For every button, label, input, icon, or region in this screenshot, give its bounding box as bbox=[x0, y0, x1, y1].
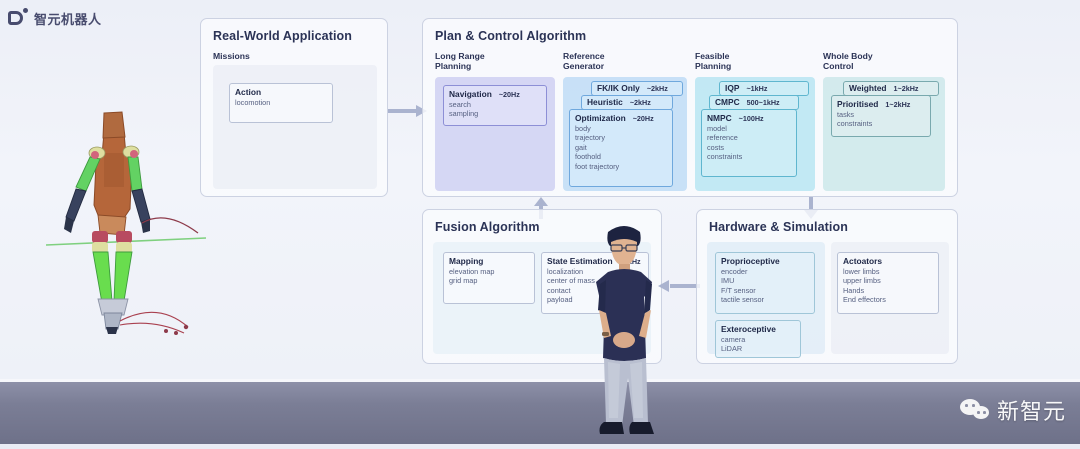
panel-title-fusion-algorithm: Fusion Algorithm bbox=[435, 220, 540, 234]
card-lines-nmpc: model reference costs constraints bbox=[707, 124, 791, 162]
card-action[interactable]: Action locomotion bbox=[229, 83, 333, 123]
card-title-weighted: Weighted bbox=[849, 83, 887, 93]
presenter-person bbox=[578, 218, 674, 444]
card-mapping[interactable]: Mapping elevation map grid map bbox=[443, 252, 535, 304]
stage-floor bbox=[0, 382, 1080, 444]
card-heuristic[interactable]: Heuristic ~2kHz bbox=[581, 95, 673, 110]
card-iqp[interactable]: IQP ~1kHz bbox=[719, 81, 809, 96]
panel-real-world-application: Real-World Application Missions Action l… bbox=[200, 18, 388, 197]
card-hz-fk-ik-only: ~2kHz bbox=[647, 84, 668, 93]
group-label-long-range-planning: Long Range Planning bbox=[435, 51, 485, 71]
card-title-nmpc: NMPC bbox=[707, 113, 732, 123]
card-title-action: Action bbox=[235, 87, 261, 97]
card-lines-exteroceptive: camera LiDAR bbox=[721, 335, 795, 354]
group-label-feasible-planning: Feasible Planning bbox=[695, 51, 731, 71]
card-prioritised[interactable]: Prioritised 1~2kHz tasks constraints bbox=[831, 95, 931, 137]
watermark-text: 新智元 bbox=[997, 394, 1066, 426]
card-hz-iqp: ~1kHz bbox=[746, 84, 767, 93]
card-lines-actoators: lower limbs upper limbs Hands End effect… bbox=[843, 267, 933, 305]
card-fk-ik-only[interactable]: FK/IK Only ~2kHz bbox=[591, 81, 683, 96]
panel-hardware-simulation: Hardware & Simulation Proprioceptive enc… bbox=[696, 209, 958, 364]
card-cmpc[interactable]: CMPC 500~1kHz bbox=[709, 95, 799, 110]
robot-kinematics-figure bbox=[46, 105, 206, 335]
card-title-optimization: Optimization bbox=[575, 113, 626, 123]
card-title-heuristic: Heuristic bbox=[587, 97, 623, 107]
card-title-proprioceptive: Proprioceptive bbox=[721, 256, 780, 266]
card-lines-proprioceptive: encoder IMU F/T sensor tactile sensor bbox=[721, 267, 809, 305]
card-lines-navigation: search sampling bbox=[449, 100, 541, 119]
brand-logo: 智元机器人 bbox=[8, 8, 102, 28]
card-title-fk-ik-only: FK/IK Only bbox=[597, 83, 640, 93]
card-proprioceptive[interactable]: Proprioceptive encoder IMU F/T sensor ta… bbox=[715, 252, 815, 314]
brand-d-logo-icon bbox=[8, 8, 28, 28]
card-title-iqp: IQP bbox=[725, 83, 739, 93]
card-navigation[interactable]: Navigation ~20Hz search sampling bbox=[443, 85, 547, 126]
card-optimization[interactable]: Optimization ~20Hz body trajectory gait … bbox=[569, 109, 673, 187]
card-title-prioritised: Prioritised bbox=[837, 99, 878, 109]
group-label-missions: Missions bbox=[213, 51, 250, 61]
card-title-exteroceptive: Exteroceptive bbox=[721, 324, 776, 334]
card-hz-prioritised: 1~2kHz bbox=[885, 100, 910, 109]
card-title-actoators: Actoators bbox=[843, 256, 882, 266]
card-exteroceptive[interactable]: Exteroceptive camera LiDAR bbox=[715, 320, 801, 358]
card-title-mapping: Mapping bbox=[449, 256, 483, 266]
card-hz-navigation: ~20Hz bbox=[499, 90, 520, 99]
card-actoators[interactable]: Actoators lower limbs upper limbs Hands … bbox=[837, 252, 939, 314]
brand-name: 智元机器人 bbox=[34, 9, 102, 28]
card-weighted[interactable]: Weighted 1~2kHz bbox=[843, 81, 939, 96]
card-title-navigation: Navigation bbox=[449, 89, 492, 99]
panel-title-hardware-simulation: Hardware & Simulation bbox=[709, 220, 848, 234]
card-lines-prioritised: tasks constraints bbox=[837, 110, 925, 129]
wechat-icon bbox=[960, 399, 990, 421]
watermark: 新智元 bbox=[960, 394, 1066, 426]
card-hz-cmpc: 500~1kHz bbox=[747, 98, 780, 107]
card-hz-optimization: ~20Hz bbox=[633, 114, 654, 123]
panel-title-real-world-application: Real-World Application bbox=[213, 29, 352, 43]
panel-title-plan-control-algorithm: Plan & Control Algorithm bbox=[435, 29, 586, 43]
card-lines-mapping: elevation map grid map bbox=[449, 267, 529, 286]
group-label-whole-body-control: Whole Body Control bbox=[823, 51, 873, 71]
card-hz-nmpc: ~100Hz bbox=[739, 114, 764, 123]
card-nmpc[interactable]: NMPC ~100Hz model reference costs constr… bbox=[701, 109, 797, 177]
card-hz-weighted: 1~2kHz bbox=[894, 84, 919, 93]
card-lines-optimization: body trajectory gait foothold foot traje… bbox=[575, 124, 667, 171]
card-lines-action: locomotion bbox=[235, 98, 327, 107]
panel-plan-control-algorithm: Plan & Control Algorithm Long Range Plan… bbox=[422, 18, 958, 197]
card-hz-heuristic: ~2kHz bbox=[630, 98, 651, 107]
card-title-cmpc: CMPC bbox=[715, 97, 740, 107]
group-label-reference-generator: Reference Generator bbox=[563, 51, 605, 71]
